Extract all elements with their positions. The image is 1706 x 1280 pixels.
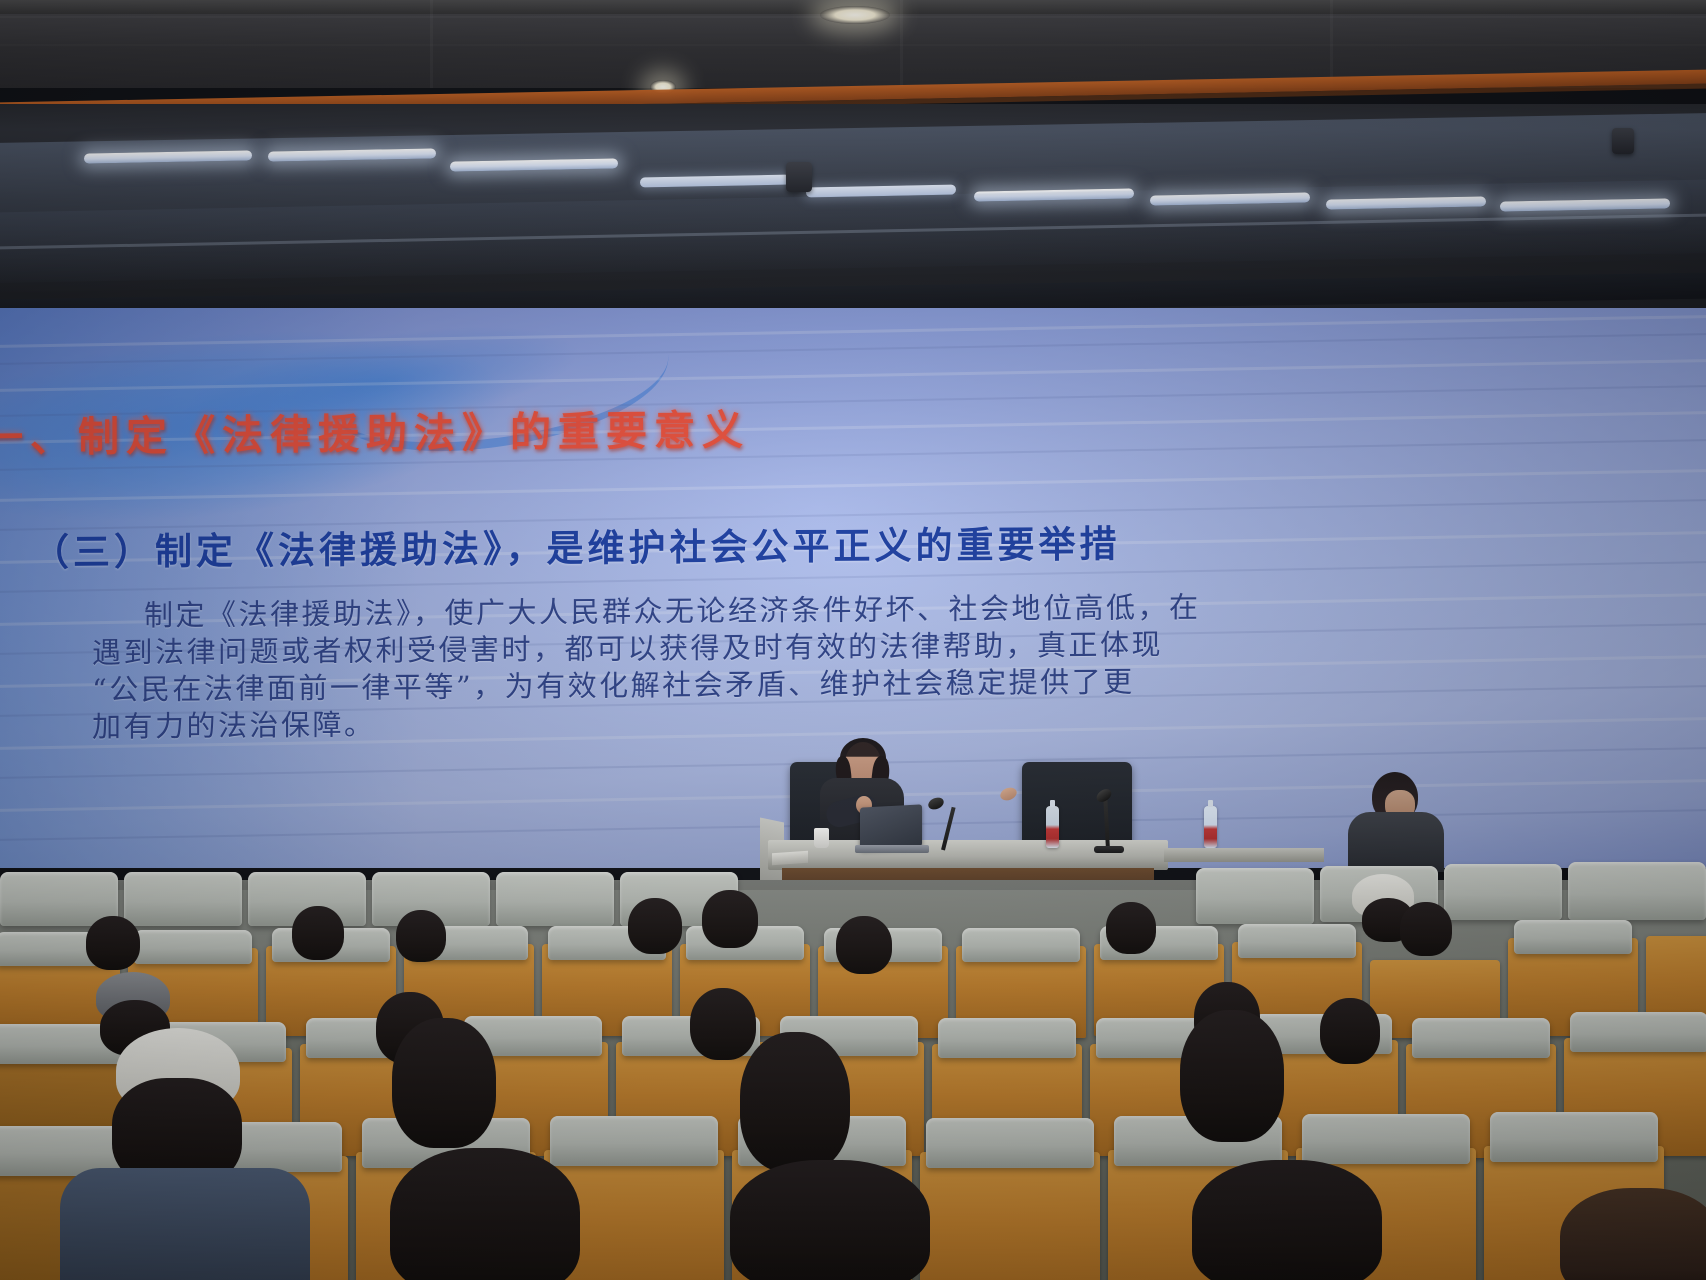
water-bottle [1204,806,1217,848]
ceiling-downlight [820,6,890,24]
ceiling-seam [900,0,903,88]
ceiling-speaker [1612,128,1634,154]
attendee-head [292,906,344,960]
water-bottle [1046,806,1059,848]
ceiling-speaker [786,162,812,192]
seat-wood-back[interactable] [920,1152,1100,1280]
lecture-hall-photo: 一、制定《法律援助法》的重要意义 （三）制定《法律援助法》，是维护社会公平正义的… [0,0,1706,1280]
attendee-head-foreground [730,1160,930,1280]
attendee-head [1400,902,1452,956]
attendee-head [396,910,446,962]
slide-heading-primary: 一、制定《法律援助法》的重要意义 [0,396,750,464]
attendee-head [628,898,682,954]
seat-backrest[interactable] [1568,862,1706,920]
ceiling-seam [430,0,433,88]
seat-backrest[interactable] [938,1018,1076,1058]
slide-heading-secondary: （三）制定《法律援助法》，是维护社会公平正义的重要举措 [32,514,1121,577]
laptop-keyboard [855,845,929,853]
attendee-head [86,916,140,970]
seat-backrest[interactable] [962,928,1080,962]
attendee-shoulders [60,1168,310,1280]
slide-body-text: 制定《法律援助法》，使广大人民群众无论经济条件好坏、社会地位高低，在 遇到法律问… [92,586,1562,746]
attendee-head-foreground [740,1032,850,1172]
seat-backrest[interactable] [1412,1018,1550,1058]
seat-backrest[interactable] [1570,1012,1706,1052]
microphone-base [1094,846,1124,853]
attendee-head [690,988,756,1060]
attendee-head-foreground [1180,1010,1284,1142]
attendee-head [836,916,892,974]
seat-backrest[interactable] [134,930,252,964]
seat-backrest[interactable] [550,1116,718,1166]
attendee-head [1320,998,1380,1064]
ceiling-seam [1330,0,1333,88]
attendee-head-foreground [1560,1188,1706,1280]
attendee-head [702,890,758,948]
seat-backrest[interactable] [926,1118,1094,1168]
seat-backrest[interactable] [124,872,242,926]
seat-backrest[interactable] [496,872,614,926]
seat-backrest[interactable] [1514,920,1632,954]
seat-backrest[interactable] [1302,1114,1470,1164]
seat-backrest[interactable] [1196,868,1314,924]
laptop-screen [860,804,922,849]
seat-backrest[interactable] [1444,864,1562,920]
seat-backrest[interactable] [1490,1112,1658,1162]
attendee-head-foreground [1192,1160,1382,1280]
seat-backrest[interactable] [1238,924,1356,958]
attendee-head-foreground [390,1148,580,1280]
attendee-head-foreground [392,1018,496,1148]
attendee-head [1106,902,1156,954]
paper-cup [814,828,829,848]
stage-ledge [1164,848,1324,862]
ceiling-seam [0,44,1706,46]
